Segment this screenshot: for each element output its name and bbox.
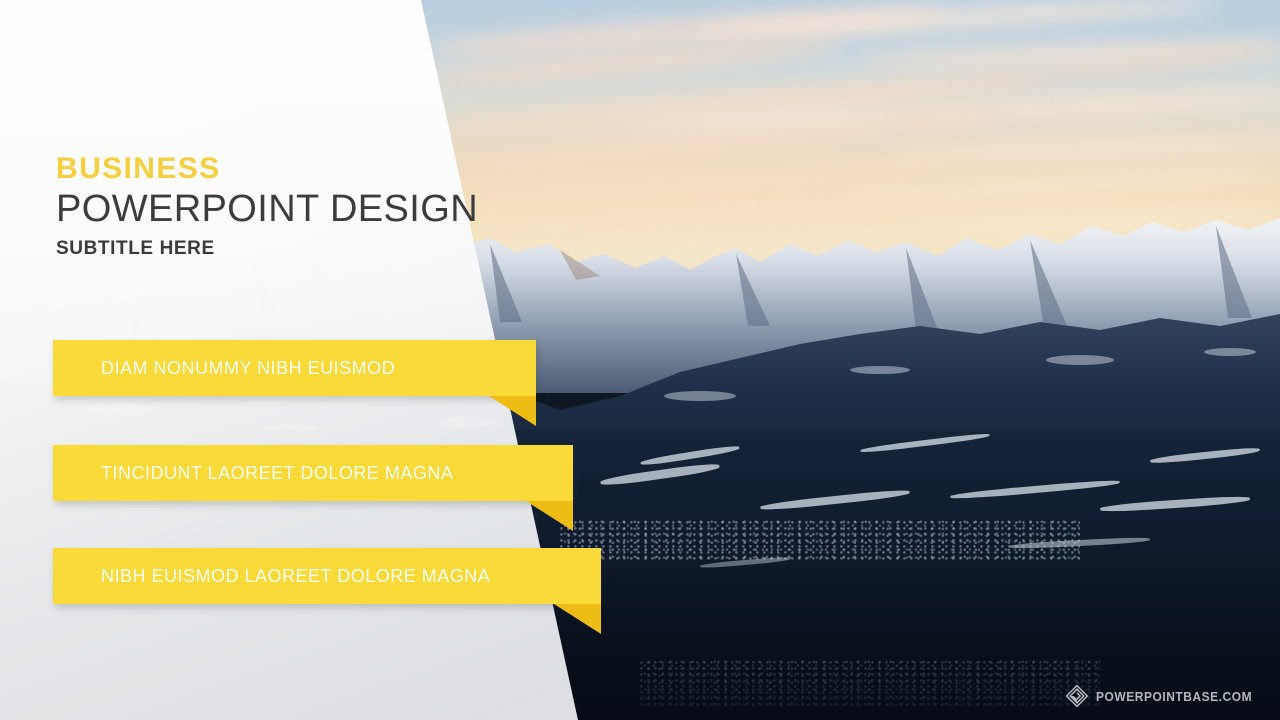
ribbon-label: TINCIDUNT LAOREET DOLORE MAGNA [53,463,453,484]
ribbon-label: DIAM NONUMMY NIBH EUISMOD [53,358,395,379]
watermark: POWERPOINTBASE.COM [1065,684,1266,708]
ribbon-fold-icon [554,604,601,634]
ribbon-fold-icon [489,396,536,426]
ribbon-item-2[interactable]: TINCIDUNT LAOREET DOLORE MAGNA [53,445,573,501]
ribbon-list: DIAM NONUMMY NIBH EUISMOD TINCIDUNT LAOR… [0,0,1280,720]
ribbon-body[interactable]: TINCIDUNT LAOREET DOLORE MAGNA [53,445,573,501]
ribbon-body[interactable]: DIAM NONUMMY NIBH EUISMOD [53,340,536,396]
ribbon-item-3[interactable]: NIBH EUISMOD LAOREET DOLORE MAGNA [53,548,601,604]
presentation-slide: BUSINESS POWERPOINT DESIGN SUBTITLE HERE… [0,0,1280,720]
ribbon-body[interactable]: NIBH EUISMOD LAOREET DOLORE MAGNA [53,548,601,604]
ribbon-fold-icon [526,501,573,531]
ribbon-item-1[interactable]: DIAM NONUMMY NIBH EUISMOD [53,340,536,396]
watermark-text: POWERPOINTBASE.COM [1096,689,1252,704]
ribbon-label: NIBH EUISMOD LAOREET DOLORE MAGNA [53,566,490,587]
diamond-maze-logo-icon [1065,684,1089,708]
